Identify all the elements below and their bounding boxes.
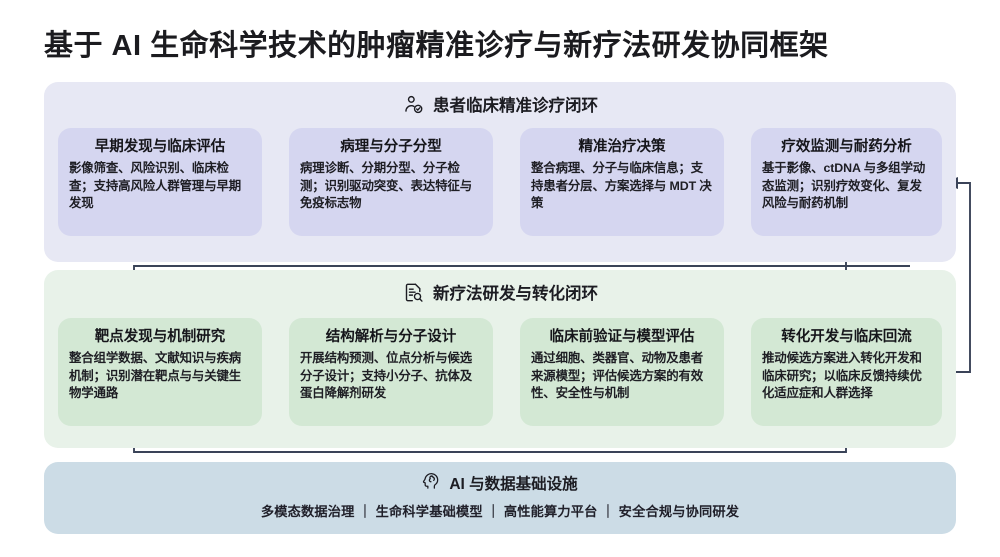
card-body: 通过细胞、类器官、动物及患者来源模型；评估候选方案的有效性、安全性与机制 bbox=[531, 350, 713, 403]
card-title: 结构解析与分子设计 bbox=[300, 327, 482, 347]
panel-rnd-header: 新疗法研发与转化闭环 bbox=[44, 280, 956, 304]
panel-ai-infrastructure: AI 与数据基础设施 多模态数据治理 ｜ 生命科学基础模型 ｜ 高性能算力平台 … bbox=[44, 462, 956, 534]
panel-clinical-header: 患者临床精准诊疗闭环 bbox=[44, 92, 956, 116]
panel-rnd-title: 新疗法研发与转化闭环 bbox=[433, 280, 598, 304]
card-structure-molecular-design[interactable]: 结构解析与分子设计 开展结构预测、位点分析与候选分子设计；支持小分子、抗体及蛋白… bbox=[289, 318, 493, 426]
card-translational-development[interactable]: 转化开发与临床回流 推动候选方案进入转化开发和临床研究；以临床反馈持续优化适应症… bbox=[751, 318, 942, 426]
card-body: 基于影像、ctDNA 与多组学动态监测；识别疗效变化、复发风险与耐药机制 bbox=[762, 160, 931, 213]
brain-head-icon bbox=[422, 471, 441, 495]
diagram-canvas: 基于 AI 生命科学技术的肿瘤精准诊疗与新疗法研发协同框架 bbox=[0, 0, 1000, 557]
card-body: 整合病理、分子与临床信息；支持患者分层、方案选择与 MDT 决策 bbox=[531, 160, 713, 213]
panel-infra-title: AI 与数据基础设施 bbox=[449, 472, 577, 494]
card-title: 转化开发与临床回流 bbox=[762, 327, 931, 347]
card-body: 开展结构预测、位点分析与候选分子设计；支持小分子、抗体及蛋白降解剂研发 bbox=[300, 350, 482, 403]
card-body: 推动候选方案进入转化开发和临床研究；以临床反馈持续优化适应症和人群选择 bbox=[762, 350, 931, 403]
card-title: 疗效监测与耐药分析 bbox=[762, 137, 931, 157]
card-preclinical-validation[interactable]: 临床前验证与模型评估 通过细胞、类器官、动物及患者来源模型；评估候选方案的有效性… bbox=[520, 318, 724, 426]
card-title: 靶点发现与机制研究 bbox=[69, 327, 251, 347]
card-target-discovery[interactable]: 靶点发现与机制研究 整合组学数据、文献知识与疾病机制；识别潜在靶点与与关键生物学… bbox=[58, 318, 262, 426]
card-title: 临床前验证与模型评估 bbox=[531, 327, 713, 347]
card-body: 整合组学数据、文献知识与疾病机制；识别潜在靶点与与关键生物学通路 bbox=[69, 350, 251, 403]
card-body: 影像筛查、风险识别、临床检查；支持高风险人群管理与早期发现 bbox=[69, 160, 251, 213]
card-title: 早期发现与临床评估 bbox=[69, 137, 251, 157]
card-title: 病理与分子分型 bbox=[300, 137, 482, 157]
document-search-icon bbox=[402, 281, 424, 303]
person-check-icon bbox=[402, 93, 424, 115]
card-pathology-molecular-typing[interactable]: 病理与分子分型 病理诊断、分期分型、分子检测；识别驱动突变、表达特征与免疫标志物 bbox=[289, 128, 493, 236]
page-title: 基于 AI 生命科学技术的肿瘤精准诊疗与新疗法研发协同框架 bbox=[44, 22, 829, 64]
panel-clinical-title: 患者临床精准诊疗闭环 bbox=[433, 92, 598, 116]
card-early-detection[interactable]: 早期发现与临床评估 影像筛查、风险识别、临床检查；支持高风险人群管理与早期发现 bbox=[58, 128, 262, 236]
card-body: 病理诊断、分期分型、分子检测；识别驱动突变、表达特征与免疫标志物 bbox=[300, 160, 482, 213]
card-precision-treatment-decision[interactable]: 精准治疗决策 整合病理、分子与临床信息；支持患者分层、方案选择与 MDT 决策 bbox=[520, 128, 724, 236]
infra-items: 多模态数据治理 ｜ 生命科学基础模型 ｜ 高性能算力平台 ｜ 安全合规与协同研发 bbox=[44, 501, 956, 520]
panel-infra-header: AI 与数据基础设施 bbox=[44, 471, 956, 495]
card-efficacy-monitoring[interactable]: 疗效监测与耐药分析 基于影像、ctDNA 与多组学动态监测；识别疗效变化、复发风… bbox=[751, 128, 942, 236]
card-title: 精准治疗决策 bbox=[531, 137, 713, 157]
